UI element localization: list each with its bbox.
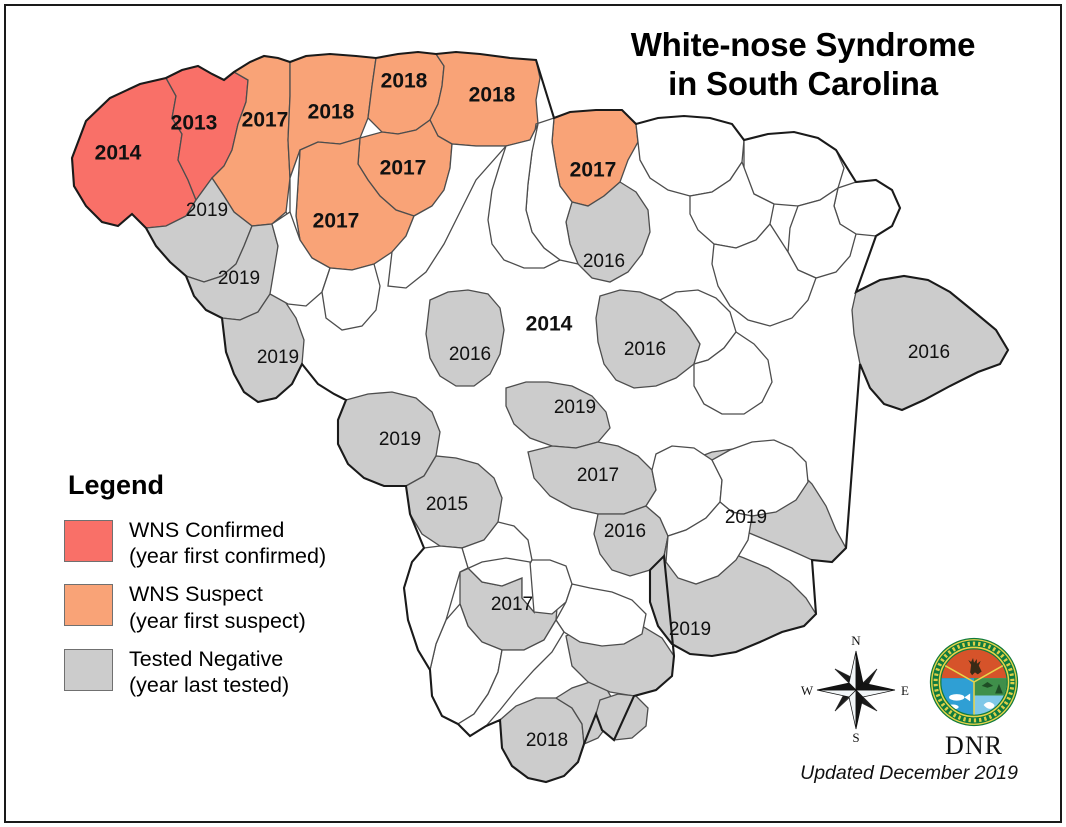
label-lancaster: 2017: [570, 159, 617, 182]
label-newberry: 2017: [313, 210, 360, 233]
label-oconee: 2014: [95, 142, 142, 165]
legend-swatch-suspect: [64, 584, 113, 626]
label-abbeville: 2019: [218, 268, 260, 289]
label-beaufort: 2018: [526, 730, 568, 751]
legend-item-confirmed[interactable]: WNS Confirmed (year first confirmed): [64, 517, 364, 569]
label-charleston: 2019: [669, 619, 711, 640]
legend-label-negative: Tested Negative (year last tested): [129, 646, 289, 698]
label-georgetown: 2019: [725, 507, 767, 528]
compass-point-west-light: [817, 690, 856, 697]
title-line-1: White-nose Syndrome: [588, 26, 1018, 65]
label-anderson: 2019: [186, 200, 228, 221]
label-mccormick: 2019: [257, 347, 299, 368]
label-richland: 2014: [526, 313, 573, 336]
label-greenville: 2017: [242, 109, 289, 132]
legend-label-confirmed: WNS Confirmed (year first confirmed): [129, 517, 326, 569]
legend-item-suspect[interactable]: WNS Suspect (year first suspect): [64, 581, 364, 633]
county-saluda[interactable]: [322, 264, 380, 330]
label-cherokee: 2018: [381, 70, 428, 93]
label-chester: 2016: [583, 251, 625, 272]
label-pickens: 2013: [171, 112, 218, 135]
label-horry: 2016: [908, 342, 950, 363]
county-colleton-island-a[interactable]: [596, 694, 648, 740]
page-title: White-nose Syndrome in South Carolina: [588, 26, 1018, 104]
legend: Legend WNS Confirmed (year first confirm…: [64, 470, 364, 710]
legend-label-negative-sub: (year last tested): [129, 672, 289, 698]
label-dorchester: 2016: [604, 521, 646, 542]
legend-swatch-confirmed: [64, 520, 113, 562]
wns-map-figure: 2014 2013 2014 2017 2018 2018 2018 2017 …: [0, 0, 1066, 827]
compass-label-west: W: [801, 683, 814, 698]
dnr-logo: DNR: [918, 634, 1030, 752]
legend-item-negative[interactable]: Tested Negative (year last tested): [64, 646, 364, 698]
legend-heading: Legend: [68, 470, 364, 501]
dnr-seal-icon: [926, 634, 1022, 730]
legend-label-negative-main: Tested Negative: [129, 647, 283, 671]
seal-fish-icon: [949, 694, 964, 701]
compass-point-west-dark: [817, 683, 856, 690]
compass-label-south: S: [852, 730, 859, 745]
label-spartanburg: 2018: [308, 101, 355, 124]
label-york: 2018: [469, 84, 516, 107]
legend-label-suspect-sub: (year first suspect): [129, 608, 306, 634]
compass-point-east-dark: [856, 683, 895, 690]
label-hampton: 2017: [491, 594, 533, 615]
updated-date: Updated December 2019: [800, 762, 1018, 785]
title-line-2: in South Carolina: [588, 65, 1018, 104]
compass-point-east-light: [856, 690, 895, 697]
legend-label-suspect-main: WNS Suspect: [129, 582, 263, 606]
dnr-wordmark: DNR: [918, 731, 1030, 761]
compass-rose: N S W E: [800, 633, 912, 747]
compass-label-east: E: [901, 683, 909, 698]
legend-label-suspect: WNS Suspect (year first suspect): [129, 581, 306, 633]
label-orangeburg: 2017: [577, 465, 619, 486]
county-fairfield[interactable]: [426, 290, 504, 386]
label-kershaw: 2016: [624, 339, 666, 360]
label-calhoun: 2019: [554, 397, 596, 418]
label-fairfield: 2016: [449, 344, 491, 365]
legend-swatch-negative: [64, 649, 113, 691]
label-union: 2017: [380, 157, 427, 180]
label-edgefield: 2019: [379, 429, 421, 450]
legend-label-confirmed-main: WNS Confirmed: [129, 518, 284, 542]
label-aiken: 2015: [426, 494, 468, 515]
legend-label-confirmed-sub: (year first confirmed): [129, 543, 326, 569]
compass-label-north: N: [851, 633, 861, 648]
